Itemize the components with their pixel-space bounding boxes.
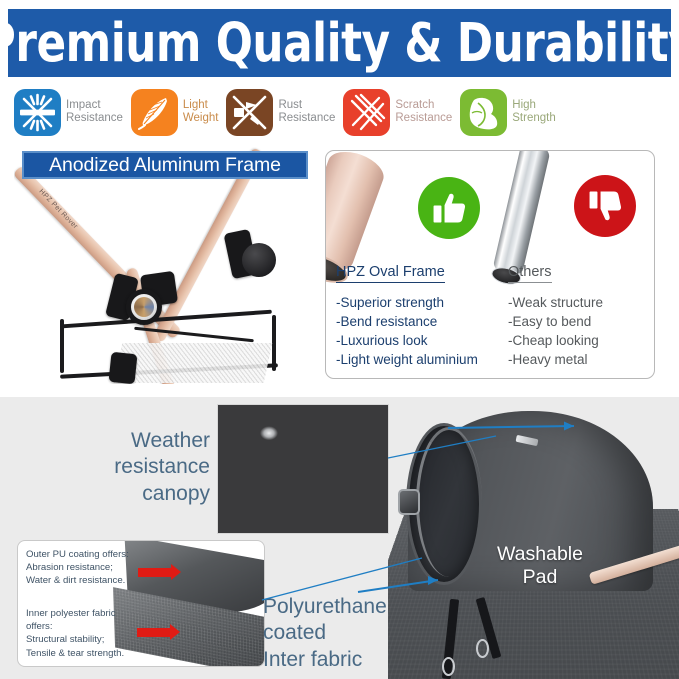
list-item: -Luxurious look	[336, 331, 478, 350]
leash-clip-icon-right	[476, 639, 489, 658]
aluminum-frame-label: Anodized Aluminum Frame	[22, 151, 308, 179]
feature-icon-row: Impact Resistance	[14, 86, 669, 138]
pu-line: Inner polyester fabric	[26, 607, 124, 620]
aluminum-frame-photo: HPZ Pet Rover	[14, 147, 314, 384]
comparison-list-hpz: -Superior strength -Bend resistance -Lux…	[336, 293, 478, 370]
feature-item-scratch-resistance: Scratch Resistance	[343, 89, 452, 136]
tube-brand-text: HPZ Pet Rover	[37, 188, 78, 230]
pad-label-line2: Pad	[480, 566, 600, 589]
thumbs-up-icon	[418, 177, 480, 239]
aluminum-frame-label-text: Anodized Aluminum Frame	[49, 154, 281, 177]
outer-pu-coating-text: Outer PU coating offers: Abrasion resist…	[26, 548, 129, 588]
frame-hub-graphic	[134, 297, 154, 317]
thumbs-down-icon	[574, 175, 636, 237]
list-item: -Bend resistance	[336, 312, 478, 331]
list-item: -Cheap looking	[508, 331, 603, 350]
weather-resistance-caption: Weather resistance canopy	[88, 428, 210, 507]
washable-pad-label: Washable Pad	[480, 543, 600, 590]
feature-label-line2: Weight	[183, 112, 219, 125]
feature-label-line2: Resistance	[278, 112, 335, 125]
comparison-heading-hpz: HPZ Oval Frame	[336, 264, 445, 283]
no-scratch-icon	[343, 89, 390, 136]
list-item: -Heavy metal	[508, 350, 603, 369]
no-rust-icon	[226, 89, 273, 136]
infographic-page: Premium Quality & Durability	[0, 0, 679, 679]
feature-label-high-strength: High Strength	[512, 99, 555, 125]
feature-item-rust-resistance: Rust Resistance	[226, 89, 335, 136]
feature-label-light-weight: Light Weight	[183, 99, 219, 125]
feature-label-impact-resistance: Impact Resistance	[66, 99, 123, 125]
comparison-column-hpz: HPZ Oval Frame -Superior strength -Bend …	[326, 151, 498, 378]
feature-label-line1: High	[512, 99, 555, 112]
frame-comparison-panel: HPZ Oval Frame -Superior strength -Bend …	[325, 150, 655, 379]
leash-clip-icon-left	[442, 657, 455, 676]
caption-line3: canopy	[88, 481, 210, 507]
feature-item-light-weight: Light Weight	[131, 89, 219, 136]
feature-label-line1: Rust	[278, 99, 335, 112]
comparison-list-others: -Weak structure -Easy to bend -Cheap loo…	[508, 293, 603, 370]
list-item: -Superior strength	[336, 293, 478, 312]
comparison-heading-others: Others	[508, 264, 552, 283]
inner-polyester-fabric-text: Inner polyester fabric offers: Structura…	[26, 607, 124, 660]
canopy-side-buckle	[398, 489, 420, 515]
red-arrow-icon-inner	[137, 628, 171, 637]
water-droplet-fabric-photo	[218, 405, 388, 533]
red-arrow-icon-outer	[138, 568, 172, 577]
feature-item-impact-resistance: Impact Resistance	[14, 89, 123, 136]
pu-line: Outer PU coating offers:	[26, 548, 129, 561]
caption-line2: coated	[263, 620, 387, 646]
pu-line: Water & dirt resistance.	[26, 574, 129, 587]
leader-line-fabric	[262, 556, 442, 606]
caption-line3: Inter fabric	[263, 647, 387, 673]
caption-line2: resistance	[88, 454, 210, 480]
frame-photo-canvas: HPZ Pet Rover	[14, 147, 314, 384]
list-item: -Easy to bend	[508, 312, 603, 331]
leader-line-canopy	[388, 424, 578, 464]
page-title: Premium Quality & Durability	[8, 16, 671, 70]
feature-label-scratch-resistance: Scratch Resistance	[395, 99, 452, 125]
list-item: -Weak structure	[508, 293, 603, 312]
frame-caster-wheel	[242, 243, 276, 277]
flexed-bicep-icon	[460, 89, 507, 136]
pad-label-line1: Washable	[480, 543, 600, 566]
feature-label-line1: Scratch	[395, 99, 452, 112]
caption-line1: Weather	[88, 428, 210, 454]
oval-tube-body	[325, 150, 389, 278]
frame-basket-mesh	[114, 343, 273, 383]
frame-rail-right-post	[272, 315, 276, 371]
pu-line: Abrasion resistance;	[26, 561, 129, 574]
round-tube-body	[492, 150, 551, 278]
comparison-column-others: Others -Weak structure -Easy to bend -Ch…	[498, 151, 655, 378]
frame-rail-left-post	[60, 319, 64, 373]
list-item: -Light weight aluminium	[336, 350, 478, 369]
feature-label-line1: Light	[183, 99, 219, 112]
feature-label-line2: Strength	[512, 112, 555, 125]
pu-line: Tensile & tear strength.	[26, 647, 124, 660]
frame-joint-bottom	[109, 352, 138, 384]
pu-line: offers:	[26, 620, 124, 633]
feature-label-rust-resistance: Rust Resistance	[278, 99, 335, 125]
pu-line: Structural stability;	[26, 633, 124, 646]
feature-label-line2: Resistance	[66, 112, 123, 125]
feature-label-line1: Impact	[66, 99, 123, 112]
feature-label-line2: Resistance	[395, 112, 452, 125]
header-banner: Premium Quality & Durability	[8, 9, 671, 77]
pu-coating-callout-box: Outer PU coating offers: Abrasion resist…	[17, 540, 265, 667]
feather-icon	[131, 89, 178, 136]
impact-burst-icon	[14, 89, 61, 136]
feature-item-high-strength: High Strength	[460, 89, 555, 136]
